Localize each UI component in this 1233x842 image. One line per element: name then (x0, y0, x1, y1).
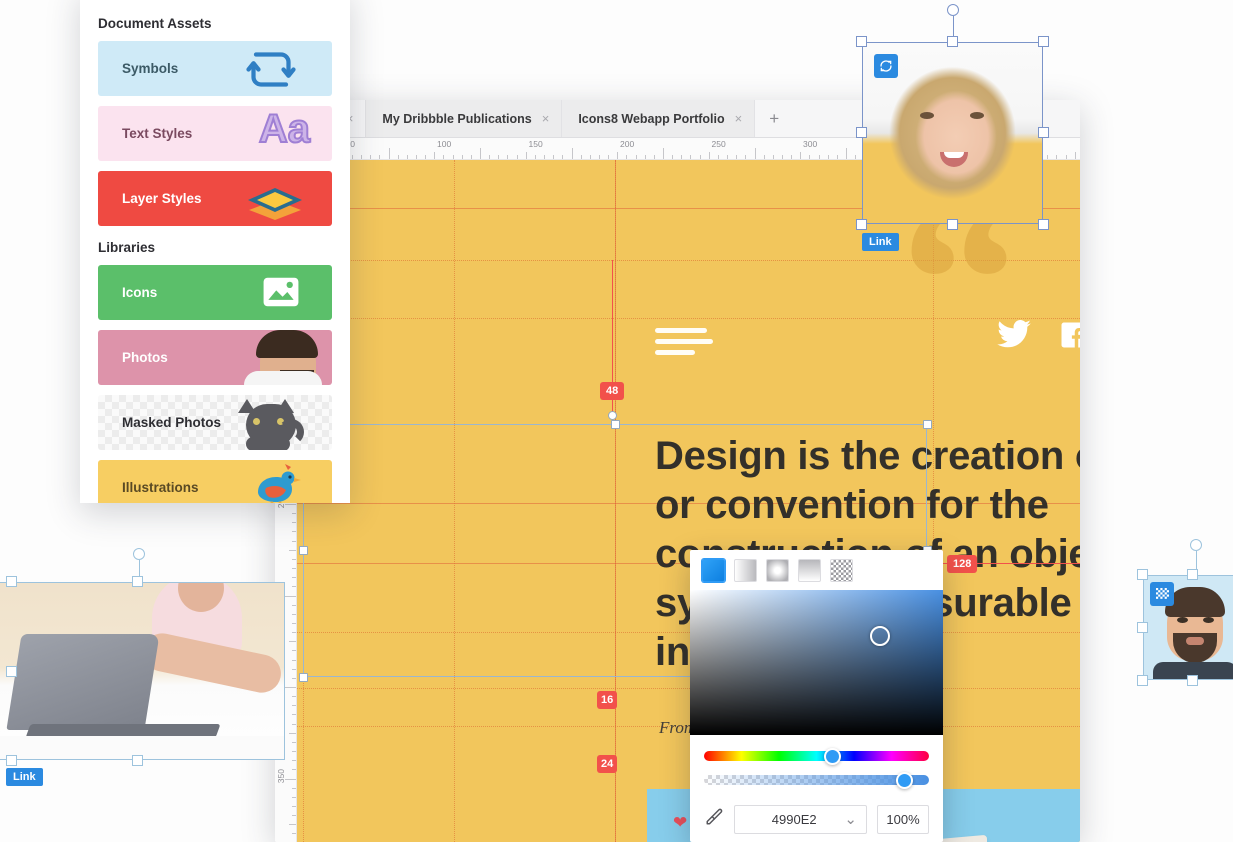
selected-photo-girl[interactable]: Link (862, 42, 1043, 224)
ruler-mark: 150 (529, 139, 543, 149)
selection-handle[interactable] (299, 673, 308, 682)
link-tag[interactable]: Link (862, 233, 899, 251)
selection-handle[interactable] (1137, 622, 1148, 633)
tab-label: My Dribbble Publications (382, 112, 531, 126)
selection-handle[interactable] (1038, 127, 1049, 138)
ruler-mark: 100 (437, 139, 451, 149)
hue-slider-knob[interactable] (824, 748, 841, 765)
image-placeholder-icon (212, 265, 322, 320)
selection-handle[interactable] (856, 36, 867, 47)
close-icon[interactable]: × (542, 111, 550, 126)
hamburger-menu-icon[interactable] (655, 328, 713, 361)
selection-handle[interactable] (856, 127, 867, 138)
saturation-value-area[interactable] (690, 590, 943, 735)
app-root: atalog × My Dribbble Publications × Icon… (0, 0, 1233, 842)
assets-panel: Document Assets Symbols Text Styles Aa L… (80, 0, 350, 503)
facebook-icon[interactable] (1057, 320, 1080, 355)
asset-row-text-styles[interactable]: Text Styles Aa (98, 106, 332, 161)
link-tag[interactable]: Link (6, 768, 43, 786)
rotate-handle[interactable] (1190, 539, 1202, 551)
selection-handle[interactable] (947, 219, 958, 230)
measure-badge-48: 48 (600, 382, 624, 400)
heart-icon: ❤ (673, 813, 687, 833)
measure-anchor-dot (608, 411, 617, 420)
asset-row-icons[interactable]: Icons (98, 265, 332, 320)
selection-handle[interactable] (1137, 675, 1148, 686)
alpha-slider-knob[interactable] (896, 772, 913, 789)
fill-type-radial-gradient[interactable] (766, 559, 789, 582)
fill-type-linear-gradient[interactable] (734, 559, 757, 582)
photo-portrait-icon (202, 330, 322, 385)
selection-handle[interactable] (6, 755, 17, 766)
selection-handle[interactable] (132, 576, 143, 587)
ruler-mark: 250 (712, 139, 726, 149)
selection-handle[interactable] (132, 755, 143, 766)
selected-photo-laptop[interactable]: Link (0, 582, 285, 760)
tab-my-dribbble-publications[interactable]: My Dribbble Publications × (366, 100, 562, 137)
eyedropper-icon[interactable] (704, 808, 724, 831)
rotate-handle[interactable] (947, 4, 959, 16)
artboard[interactable]: “ Design is the creation of a plan or co… (297, 160, 1080, 842)
tab-label: Icons8 Webapp Portfolio (578, 112, 724, 126)
selection-handle[interactable] (1187, 569, 1198, 580)
selection-handle[interactable] (1137, 569, 1148, 580)
asset-row-label: Illustrations (122, 480, 199, 495)
asset-row-label: Photos (122, 350, 168, 365)
assets-section-libraries: Libraries (98, 240, 332, 255)
asset-row-label: Symbols (122, 61, 178, 76)
layer-styles-stack-icon (212, 171, 322, 226)
fill-type-tabs (690, 550, 943, 590)
ruler-mark: 350 (276, 769, 286, 783)
asset-row-masked-photos[interactable]: Masked Photos (98, 395, 332, 450)
measure-badge-16: 16 (597, 691, 617, 709)
selection-handle[interactable] (299, 546, 308, 555)
new-tab-button[interactable]: + (755, 100, 793, 137)
text-styles-aa-icon: Aa (212, 106, 322, 161)
selection-handle[interactable] (611, 420, 620, 429)
selection-handle[interactable] (856, 219, 867, 230)
chevron-down-icon[interactable]: ⌄ (844, 815, 857, 825)
hex-value-text: 4990E2 (744, 812, 844, 827)
symbol-refresh-icon (212, 41, 322, 96)
measure-badge-24: 24 (597, 755, 617, 773)
alpha-value-field[interactable]: 100% (877, 805, 929, 834)
selection-handle[interactable] (1038, 219, 1049, 230)
tab-icons8-webapp-portfolio[interactable]: Icons8 Webapp Portfolio × (562, 100, 755, 137)
asset-row-label: Masked Photos (122, 415, 221, 430)
measure-badge-128: 128 (947, 555, 977, 573)
asset-row-label: Text Styles (122, 126, 192, 141)
hue-slider[interactable] (704, 751, 929, 761)
slider-group (690, 735, 943, 801)
close-icon[interactable]: × (735, 111, 743, 126)
twitter-icon[interactable] (997, 320, 1031, 353)
ruler-mark: 300 (803, 139, 817, 149)
hex-value-field[interactable]: 4990E2 ⌄ (734, 805, 867, 834)
selected-photo-man[interactable] (1143, 575, 1233, 680)
asset-row-label: Icons (122, 285, 157, 300)
selection-frame (0, 582, 285, 760)
sv-cursor-handle[interactable] (870, 626, 890, 646)
bird-illustration-icon (212, 460, 322, 503)
color-value-row: 4990E2 ⌄ 100% (690, 801, 943, 834)
asset-row-illustrations[interactable]: Illustrations (98, 460, 332, 503)
asset-row-label: Layer Styles (122, 191, 202, 206)
selection-handle[interactable] (6, 576, 17, 587)
alpha-slider[interactable] (704, 775, 929, 785)
selection-handle[interactable] (1038, 36, 1049, 47)
selection-handle[interactable] (6, 666, 17, 677)
selection-handle[interactable] (1187, 675, 1198, 686)
fill-type-pattern[interactable] (830, 559, 853, 582)
asset-row-layer-styles[interactable]: Layer Styles (98, 171, 332, 226)
selection-handle[interactable] (947, 36, 958, 47)
asset-row-photos[interactable]: Photos (98, 330, 332, 385)
selection-handle[interactable] (923, 420, 932, 429)
rotate-handle[interactable] (133, 548, 145, 560)
fill-type-solid[interactable] (702, 559, 725, 582)
ruler-mark: 200 (620, 139, 634, 149)
symbol-refresh-icon[interactable] (874, 54, 898, 78)
color-picker-popover[interactable]: 4990E2 ⌄ 100% (690, 550, 943, 842)
mask-pattern-icon[interactable] (1150, 582, 1174, 606)
asset-row-symbols[interactable]: Symbols (98, 41, 332, 96)
fill-type-angular-gradient[interactable] (798, 559, 821, 582)
assets-section-document-assets: Document Assets (98, 16, 332, 31)
